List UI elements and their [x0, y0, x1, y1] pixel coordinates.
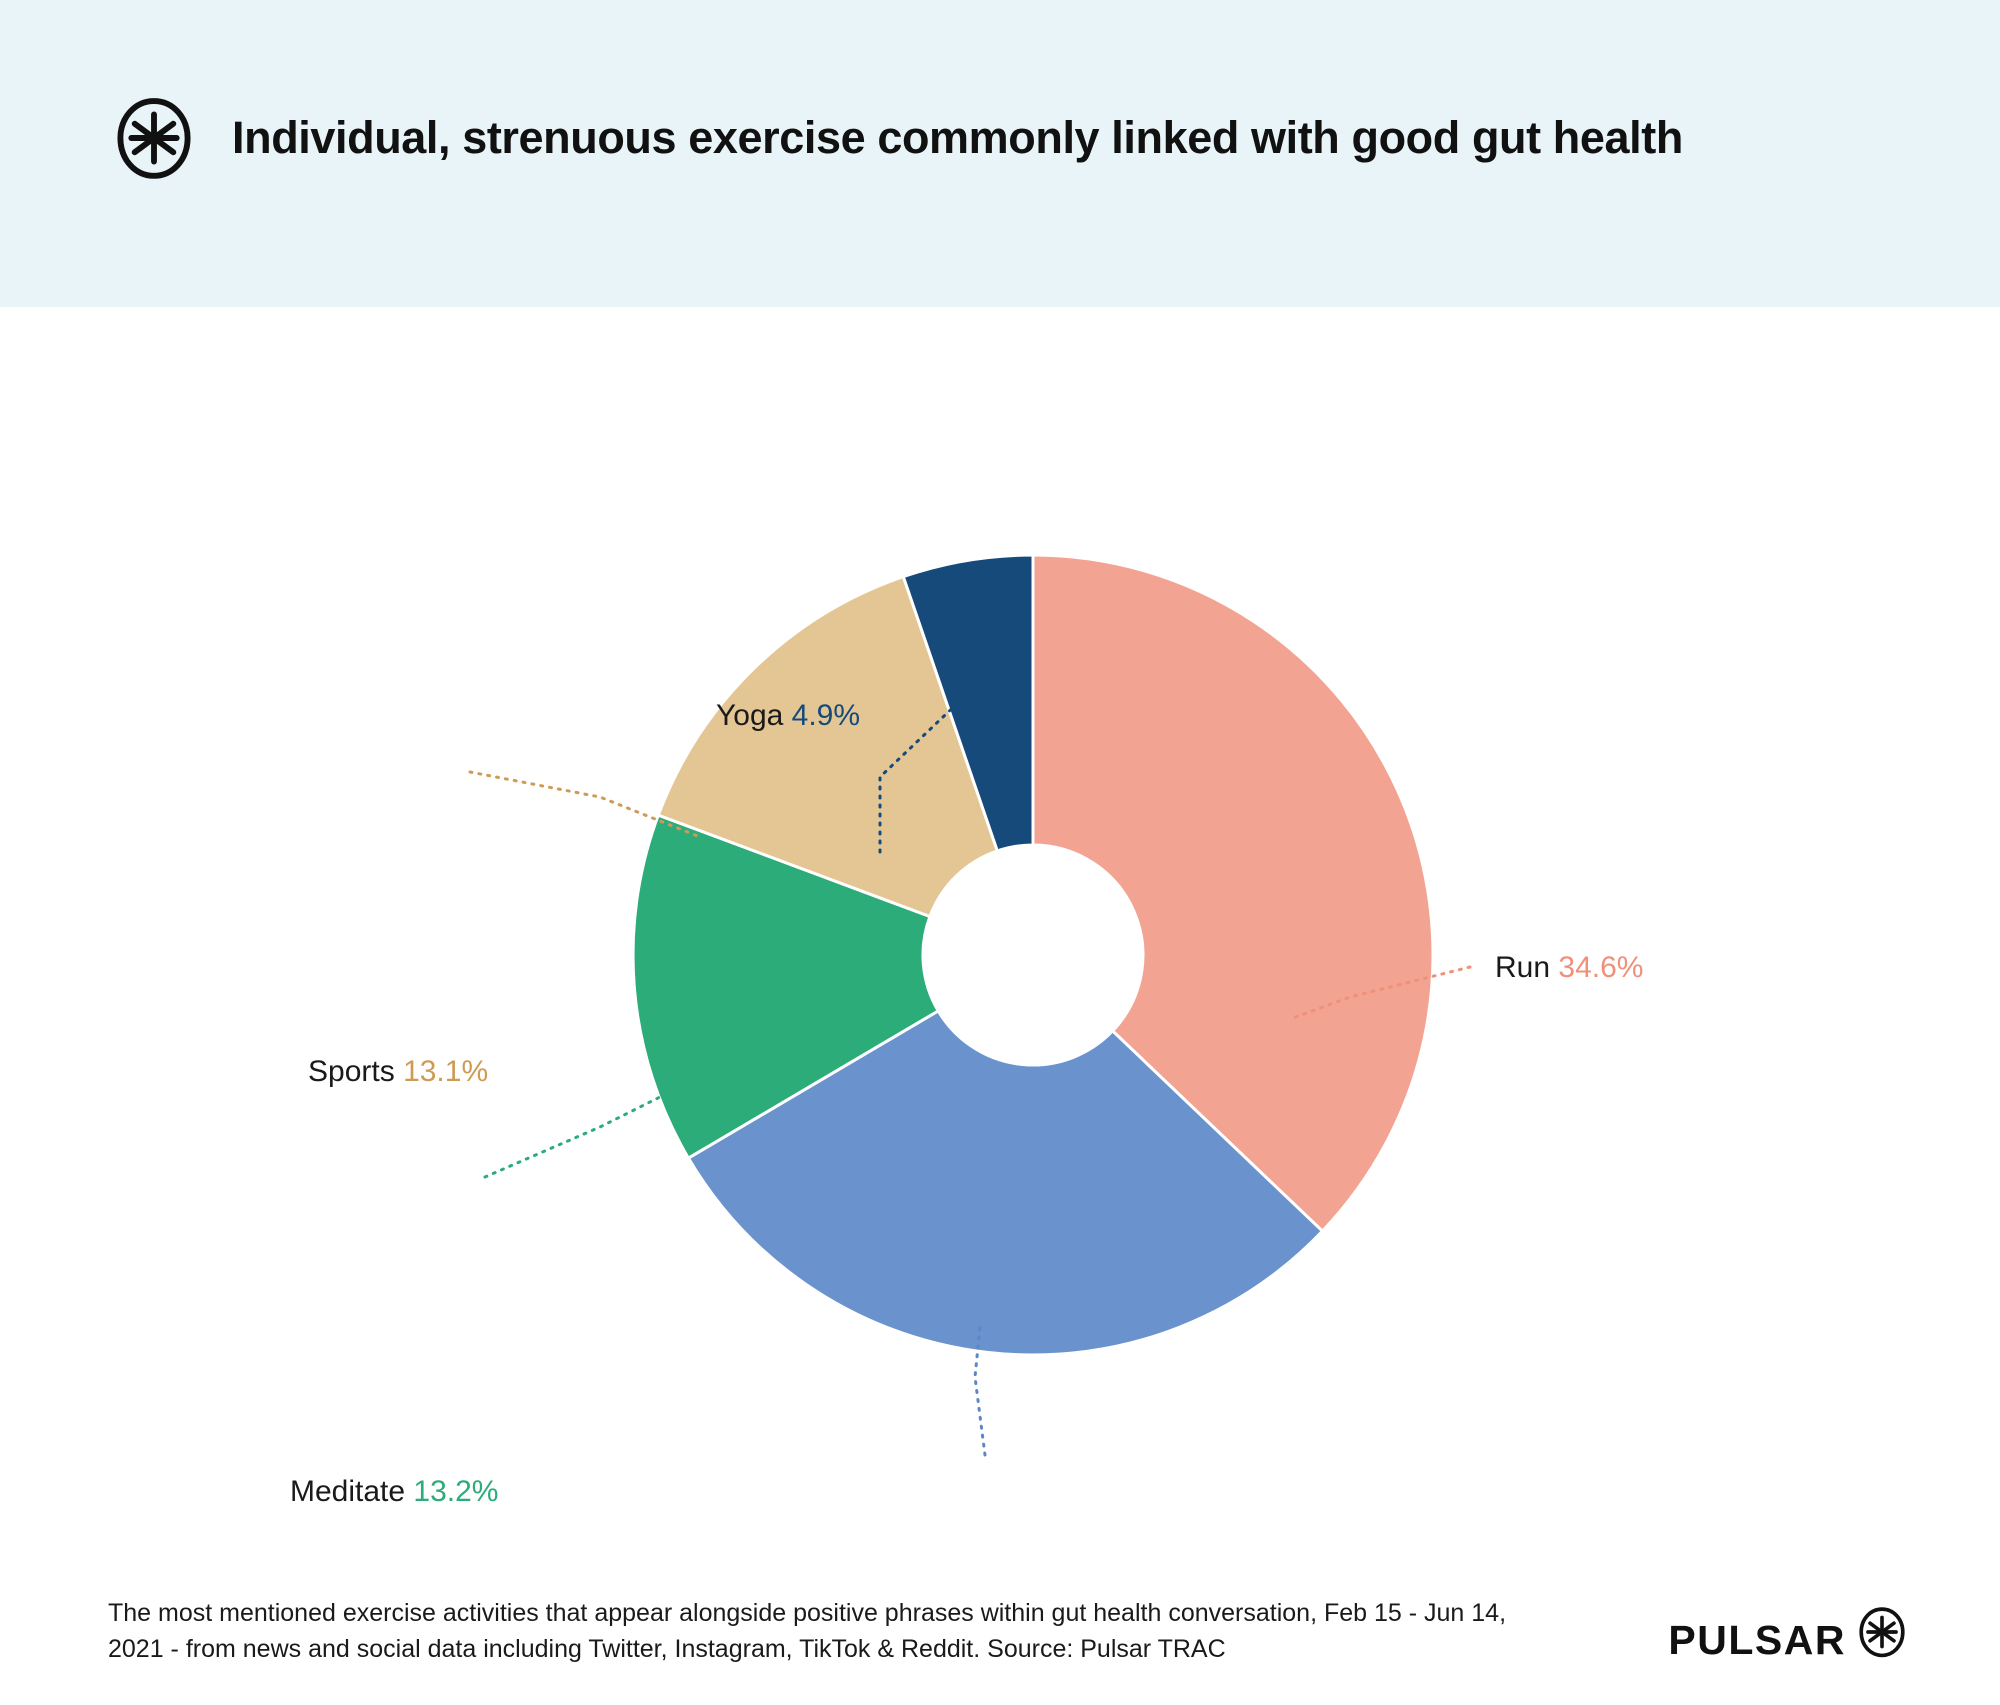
- label-yoga-name: Yoga: [716, 699, 783, 732]
- label-yoga-pct: 4.9%: [792, 699, 860, 732]
- label-meditate-pct: 13.2%: [413, 1475, 498, 1508]
- donut-chart-svg: [0, 307, 2000, 1517]
- donut-chart: Yoga 4.9% Run 34.6% Sports 13.1% Meditat…: [0, 307, 2000, 1517]
- pulsar-asterisk-icon: [112, 96, 196, 180]
- pulsar-logo-text: PULSAR: [1668, 1617, 1846, 1664]
- label-run-pct: 34.6%: [1558, 951, 1643, 984]
- label-meditate: Meditate 13.2%: [290, 1475, 499, 1509]
- label-run-name: Run: [1495, 951, 1550, 984]
- infographic-page: Individual, strenuous exercise commonly …: [0, 0, 2000, 1705]
- label-run: Run 34.6%: [1495, 951, 1643, 985]
- label-meditate-name: Meditate: [290, 1475, 405, 1508]
- label-yoga: Yoga 4.9%: [716, 699, 860, 733]
- footer-caption: The most mentioned exercise activities t…: [108, 1595, 1568, 1668]
- pulsar-asterisk-icon: [1856, 1606, 1908, 1658]
- label-sports: Sports 13.1%: [308, 1055, 488, 1089]
- header-banner: Individual, strenuous exercise commonly …: [0, 0, 2000, 307]
- label-sports-name: Sports: [308, 1055, 395, 1088]
- footer: The most mentioned exercise activities t…: [0, 1570, 2000, 1705]
- label-sports-pct: 13.1%: [403, 1055, 488, 1088]
- page-title: Individual, strenuous exercise commonly …: [232, 112, 1683, 164]
- header-content: Individual, strenuous exercise commonly …: [112, 96, 1683, 180]
- pulsar-logo: PULSAR: [1668, 1606, 1908, 1674]
